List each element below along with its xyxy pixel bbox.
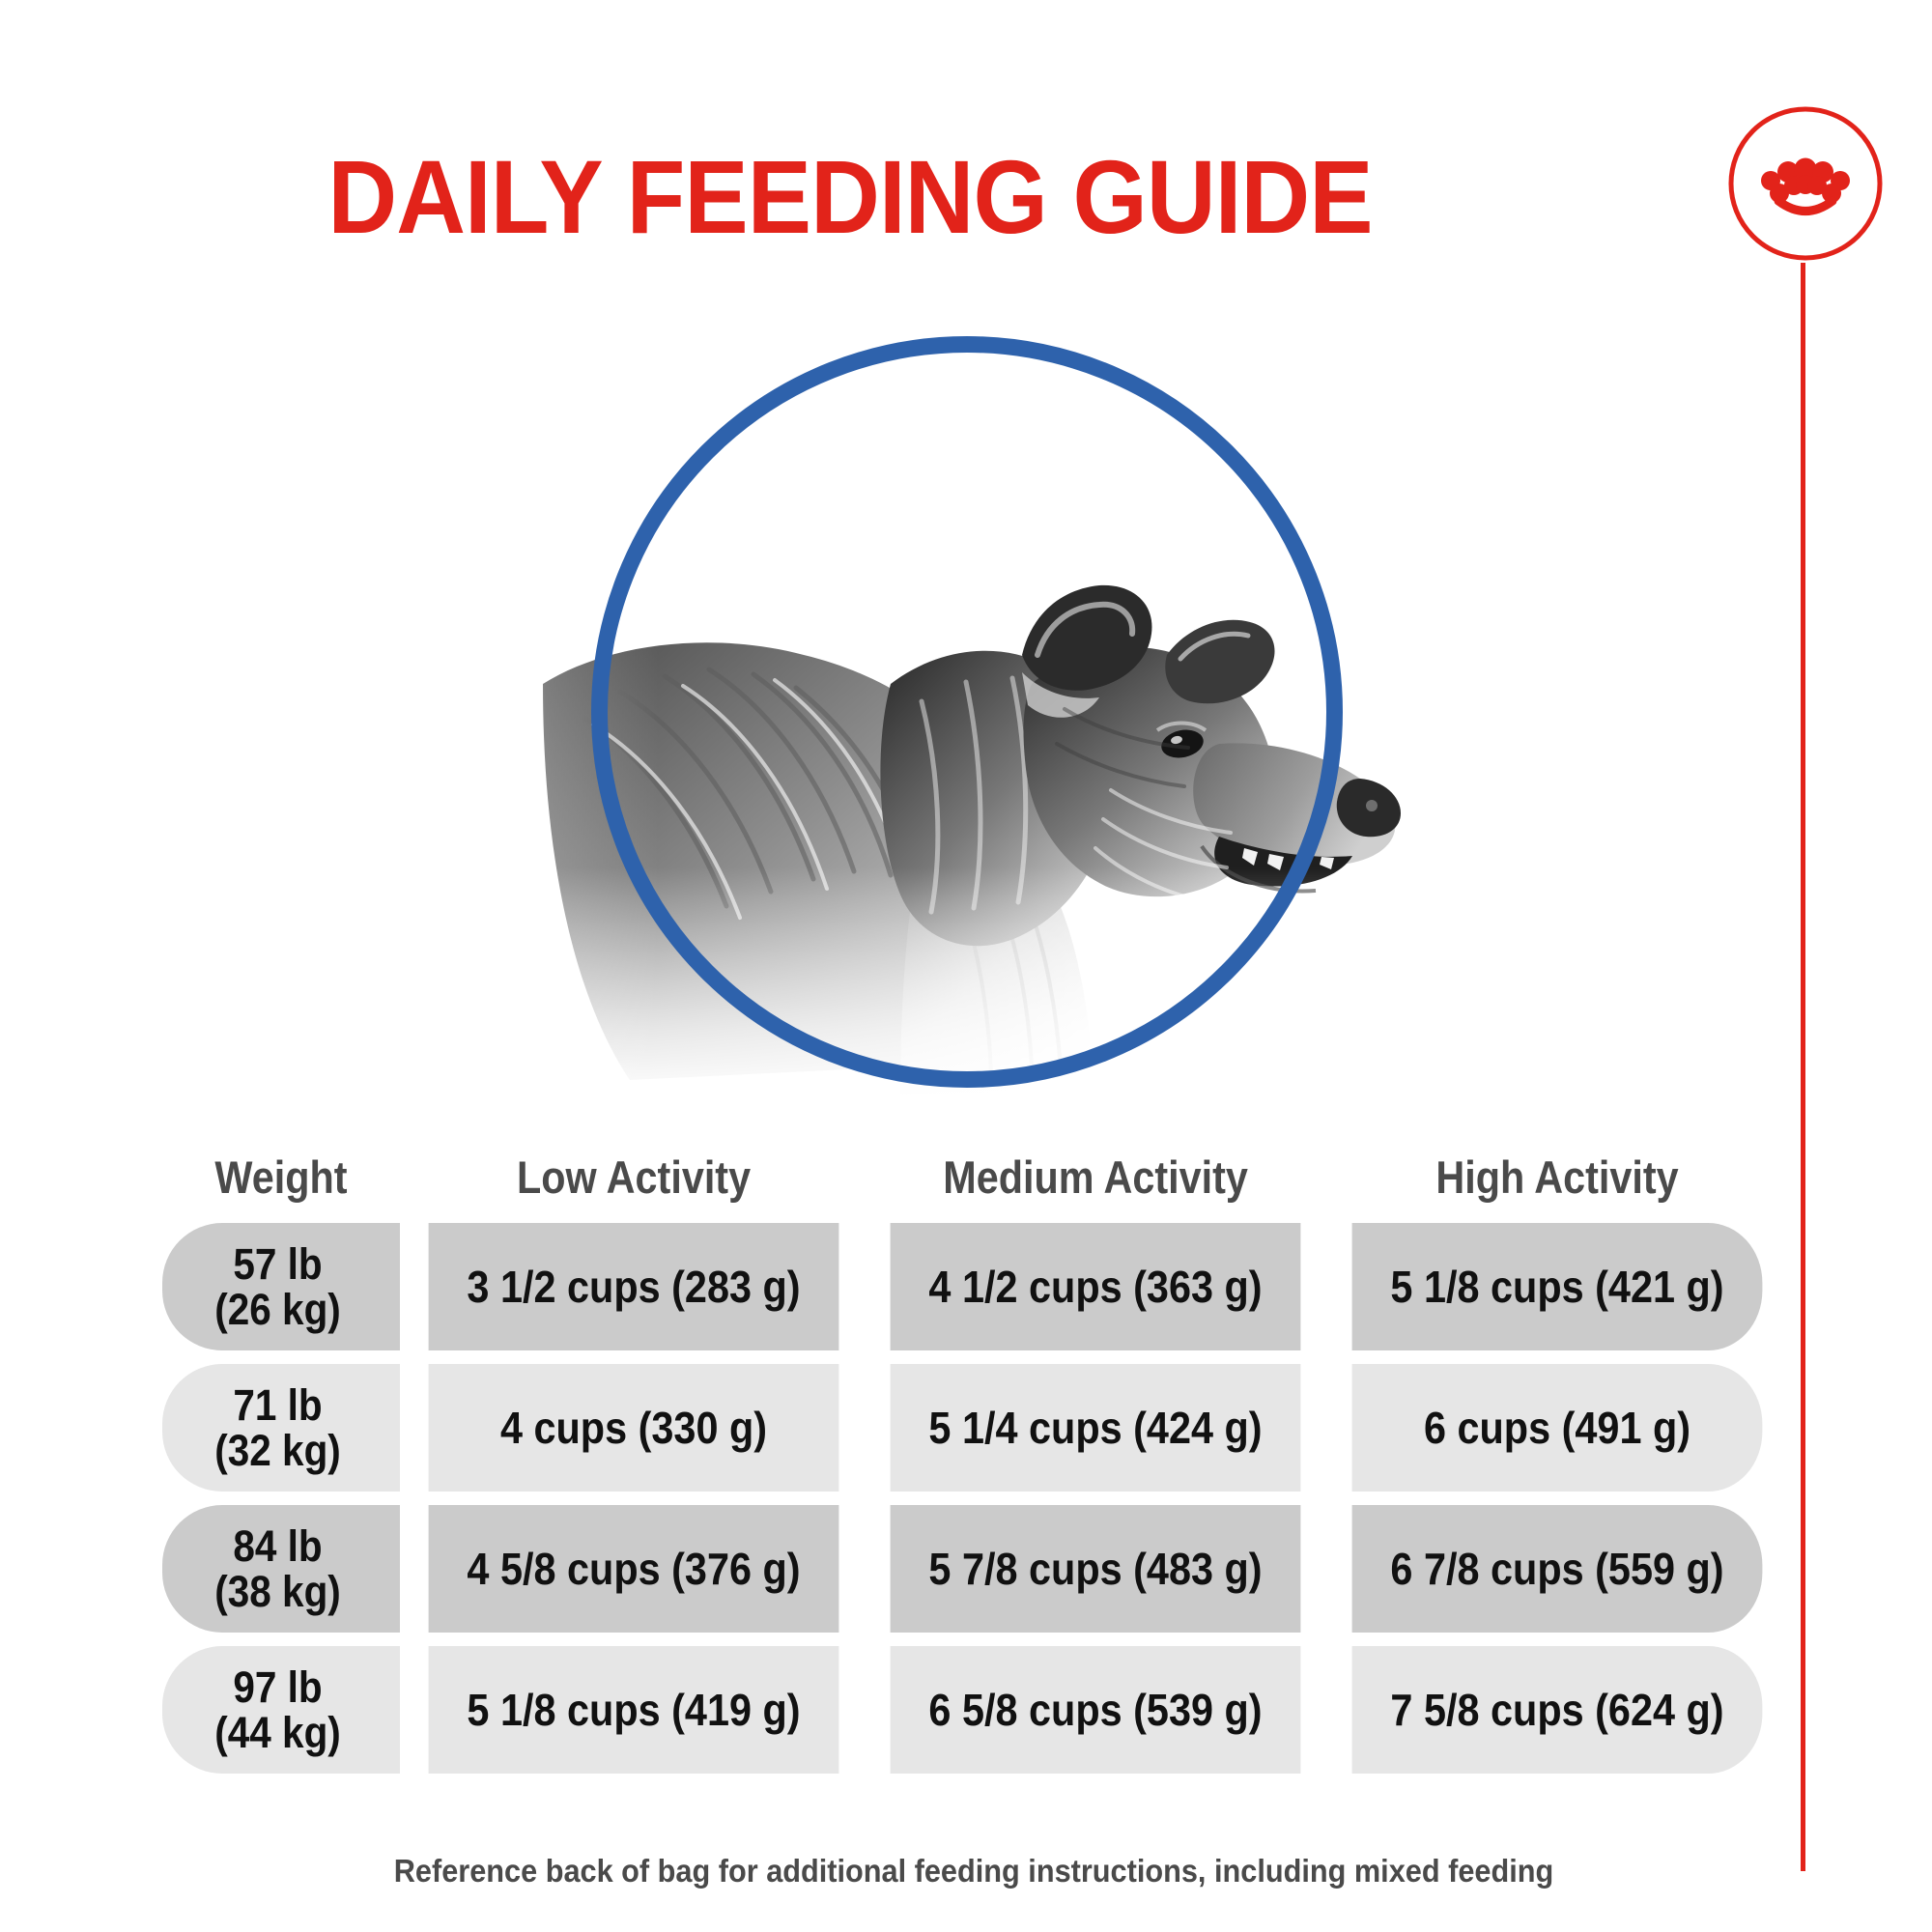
weight-kg: (44 kg) xyxy=(215,1710,342,1755)
weight-lb: 71 lb xyxy=(215,1382,342,1428)
cell-low-activity: 5 1/8 cups (419 g) xyxy=(429,1646,839,1774)
cell-low-activity: 3 1/2 cups (283 g) xyxy=(429,1223,839,1350)
weight-kg: (32 kg) xyxy=(215,1428,342,1473)
cell-medium-activity: 5 7/8 cups (483 g) xyxy=(891,1505,1301,1633)
cell-weight: 97 lb (44 kg) xyxy=(162,1646,400,1774)
cell-low-activity: 4 cups (330 g) xyxy=(429,1364,839,1492)
feeding-footnote: Reference back of bag for additional fee… xyxy=(219,1853,1728,1889)
weight-kg: (38 kg) xyxy=(215,1569,342,1614)
feeding-guide-page: DAILY FEEDING GUIDE xyxy=(0,0,1932,1932)
cell-high-activity: 5 1/8 cups (421 g) xyxy=(1352,1223,1763,1350)
cell-medium-activity: 4 1/2 cups (363 g) xyxy=(891,1223,1301,1350)
table-row: 57 lb (26 kg) 3 1/2 cups (283 g) 4 1/2 c… xyxy=(162,1223,1785,1350)
weight-lb: 97 lb xyxy=(215,1664,342,1710)
cell-medium-activity: 5 1/4 cups (424 g) xyxy=(891,1364,1301,1492)
weight-lb: 84 lb xyxy=(215,1523,342,1569)
cell-low-activity: 4 5/8 cups (376 g) xyxy=(429,1505,839,1633)
column-header-high: High Activity xyxy=(1356,1151,1757,1204)
cell-high-activity: 6 cups (491 g) xyxy=(1352,1364,1763,1492)
weight-kg: (26 kg) xyxy=(215,1287,342,1332)
dog-medallion xyxy=(591,336,1343,1088)
column-header-low: Low Activity xyxy=(433,1151,834,1204)
column-header-weight: Weight xyxy=(177,1151,385,1204)
cell-weight: 84 lb (38 kg) xyxy=(162,1505,400,1633)
column-header-medium: Medium Activity xyxy=(895,1151,1295,1204)
medallion-ring xyxy=(591,336,1343,1088)
cell-weight: 71 lb (32 kg) xyxy=(162,1364,400,1492)
cell-high-activity: 6 7/8 cups (559 g) xyxy=(1352,1505,1763,1633)
weight-lb: 57 lb xyxy=(215,1241,342,1287)
table-header-row: Weight Low Activity Medium Activity High… xyxy=(162,1130,1785,1223)
table-row: 71 lb (32 kg) 4 cups (330 g) 5 1/4 cups … xyxy=(162,1364,1785,1492)
royal-canin-crown-icon xyxy=(1723,101,1888,266)
cell-medium-activity: 6 5/8 cups (539 g) xyxy=(891,1646,1301,1774)
table-row: 84 lb (38 kg) 4 5/8 cups (376 g) 5 7/8 c… xyxy=(162,1505,1785,1633)
brand-rule-line xyxy=(1801,263,1805,1871)
cell-high-activity: 7 5/8 cups (624 g) xyxy=(1352,1646,1763,1774)
feeding-table: Weight Low Activity Medium Activity High… xyxy=(162,1130,1785,1787)
table-row: 97 lb (44 kg) 5 1/8 cups (419 g) 6 5/8 c… xyxy=(162,1646,1785,1774)
page-title: DAILY FEEDING GUIDE xyxy=(68,145,1632,249)
cell-weight: 57 lb (26 kg) xyxy=(162,1223,400,1350)
